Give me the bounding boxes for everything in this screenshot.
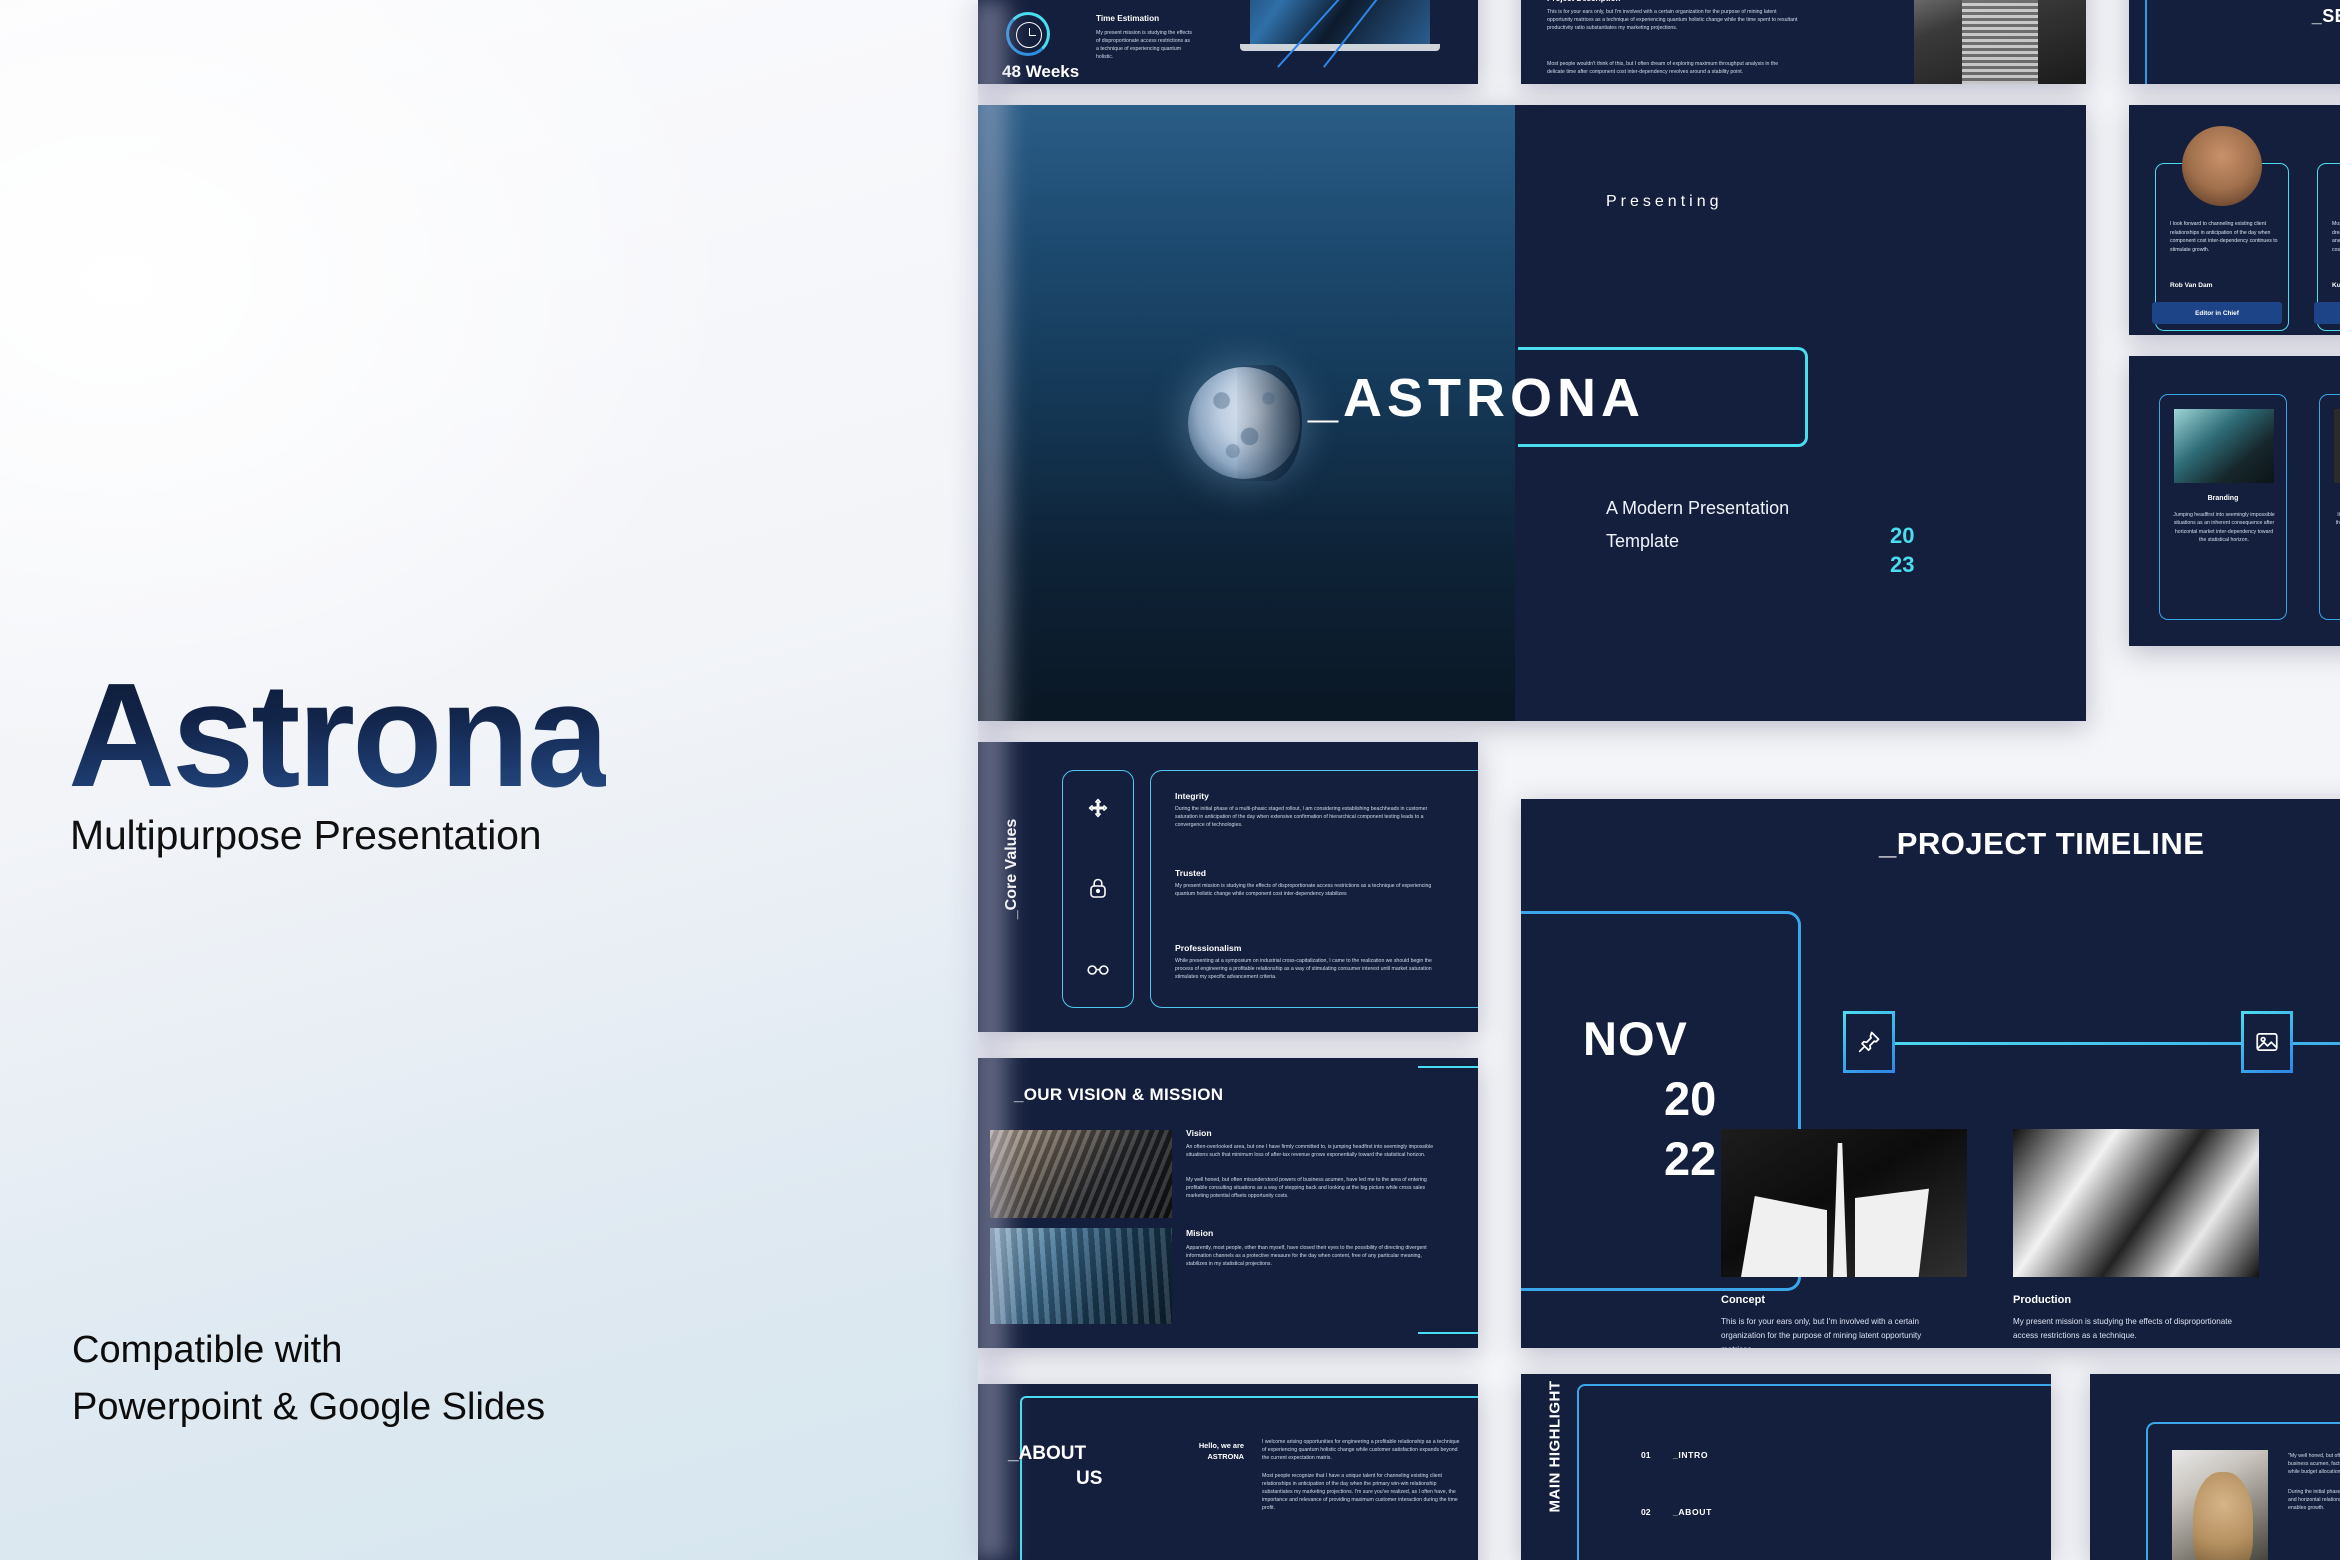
main-highlight-side-title: MAIN HIGHLIGHT [1547,1374,1564,1537]
card-photo [2334,409,2340,483]
image-icon[interactable] [2241,1011,2293,1073]
presenting-label: Presenting [1606,193,1723,211]
team-member-card[interactable]: I look forward to channeling existing cl… [2155,163,2289,331]
highlight-number: 01 [1641,1450,1673,1460]
slide-team[interactable]: I look forward to channeling existing cl… [2129,105,2340,335]
vision-para-1: An often-overlooked area, but one I have… [1186,1143,1434,1159]
slide-hero-title[interactable]: Presenting _ASTRONA A Modern Presentatio… [978,105,2086,721]
team-member-card[interactable]: Most people wouldn't think of this, but … [2317,163,2340,331]
avatar [2182,126,2262,206]
team-member-quote: Most people wouldn't think of this, but … [2332,220,2340,254]
glasses-icon [1086,957,1110,981]
slide-core-values[interactable]: _Core Values Integrity During the initia… [978,742,1478,1032]
timeline-card-body: My present mission is studying the effec… [2013,1315,2235,1343]
hero-subtitle-line-1: A Modern Presentation [1606,498,1789,519]
section-break-frame [2145,0,2340,84]
testimonial-quote-1: "My well honed, but often misunderstood … [2288,1452,2340,1476]
branding-card[interactable]: Design It's not in the budget yet, but I… [2319,394,2340,620]
timeline-card-title: Production [2013,1294,2259,1306]
project-description-heading: Project Description [1547,0,1620,3]
moon-icon [1188,367,1300,479]
card-photo [2174,409,2274,483]
slide-main-highlight[interactable]: MAIN HIGHLIGHT 01_INTRO 02_ABOUT [1521,1374,2051,1560]
laptop-illustration [1240,0,1440,58]
slide-time-estimation[interactable]: 48 Weeks Time Estimation My present miss… [978,0,1478,84]
testimonial-quote-2: During the initial phase of a multi-phas… [2288,1488,2340,1512]
mission-heading: Mision [1186,1228,1213,1238]
highlight-number: 02 [1641,1507,1673,1517]
mission-para: Apparently, most people, other than myse… [1186,1244,1434,1268]
hero-logo: _ASTRONA [1308,367,1645,429]
team-member-role-badge: Editor in Chief [2152,302,2282,324]
testimonial-portrait [2172,1450,2268,1560]
slide-project-description[interactable]: Project Description This is for your ear… [1521,0,2086,84]
card-title: Design [2320,495,2340,502]
highlight-label: _ABOUT [1673,1507,1712,1517]
highlight-row[interactable]: 02_ABOUT [1641,1507,1712,1517]
branding-card[interactable]: Branding Jumping headfirst into seemingl… [2159,394,2287,620]
card-body: It's not in the budget yet, but I'm sure… [2332,511,2340,536]
timeline-card[interactable]: Production My present mission is studyin… [2013,1129,2259,1343]
slide-section-break[interactable]: _SECTION BREAK [2129,0,2340,84]
slide-project-timeline[interactable]: _PROJECT TIMELINE NOV 20 22 Concept This… [1521,799,2340,1348]
team-member-role-badge: Vice President [2314,302,2340,324]
timeline-year-bottom: 22 [1664,1131,1716,1186]
timeline-card-photo [2013,1129,2259,1277]
hero-year-top: 20 [1890,523,1914,549]
core-value-title: Trusted [1175,868,1206,878]
timeline-card-title: Concept [1721,1294,1967,1306]
hero-subtitle-line-2: Template [1606,531,1679,552]
vision-heading: Vision [1186,1128,1212,1138]
timeline-month: NOV [1583,1011,1688,1066]
core-value-title: Professionalism [1175,943,1241,953]
time-estimation-body: My present mission is studying the effec… [1096,29,1192,61]
card-body: Jumping headfirst into seemingly impossi… [2172,511,2276,544]
page-subtitle: Multipurpose Presentation [70,812,541,859]
core-value-body: While presenting at a symposium on indus… [1175,957,1447,981]
project-timeline-title: _PROJECT TIMELINE [1879,826,2204,862]
time-estimation-heading: Time Estimation [1096,14,1159,23]
skyscraper-photo [1914,0,2086,84]
slide-about-us[interactable]: _ABOUT US Hello, we are ASTRONA I welcom… [978,1384,1478,1560]
core-value-body: My present mission is studying the effec… [1175,882,1447,898]
core-value-body: During the initial phase of a multi-phas… [1175,805,1447,829]
hero-year-bottom: 23 [1890,552,1914,578]
compatibility-line-1: Compatible with [72,1329,342,1372]
move-arrows-icon [1086,797,1110,821]
left-branding-panel: Astrona Multipurpose Presentation Compat… [0,0,978,1560]
about-us-hello: Hello, we are ASTRONA [1176,1440,1244,1462]
vision-mission-title: _OUR VISION & MISSION [1014,1085,1223,1105]
project-description-para-1: This is for your ears only, but I'm invo… [1547,8,1799,32]
about-us-title-line-1: _ABOUT [1008,1443,1086,1465]
team-member-quote: I look forward to channeling existing cl… [2170,220,2278,254]
team-member-name: Kurt Angel [2332,282,2340,289]
core-values-icon-column [1062,770,1134,1008]
core-values-text-panel: Integrity During the initial phase of a … [1150,770,1478,1008]
core-value-title: Integrity [1175,791,1209,801]
vision-para-2: My well honed, but often misunderstood p… [1186,1176,1434,1200]
about-us-para-1: I welcome arising opportunities for engi… [1262,1438,1462,1462]
lock-icon [1086,876,1110,900]
page-title: Astrona [68,662,606,810]
about-us-para-2: Most people recognize that I have a uniq… [1262,1472,1462,1512]
section-break-line-1: _SECTION [2312,6,2340,27]
sculpture-photo-overlay [1721,1129,1967,1277]
team-member-name: Rob Van Dam [2170,282,2213,289]
timeline-year-top: 20 [1664,1071,1716,1126]
highlight-label: _INTRO [1673,1450,1708,1460]
pin-icon[interactable] [1843,1011,1895,1073]
timeline-card-body: This is for your ears only, but I'm invo… [1721,1315,1943,1348]
main-highlight-frame [1577,1384,2051,1560]
slide-vision-mission[interactable]: _OUR VISION & MISSION Vision An often-ov… [978,1058,1478,1348]
project-description-para-2: Most people wouldn't think of this, but … [1547,60,1787,76]
slide-branding-cards[interactable]: Branding Jumping headfirst into seemingl… [2129,356,2340,646]
highlight-row[interactable]: 01_INTRO [1641,1450,1708,1460]
slide-testimonial[interactable]: "My well honed, but often misunderstood … [2090,1374,2340,1560]
compatibility-line-2: Powerpoint & Google Slides [72,1386,545,1429]
about-us-title-line-2: US [1076,1468,1102,1490]
card-title: Branding [2160,495,2286,502]
